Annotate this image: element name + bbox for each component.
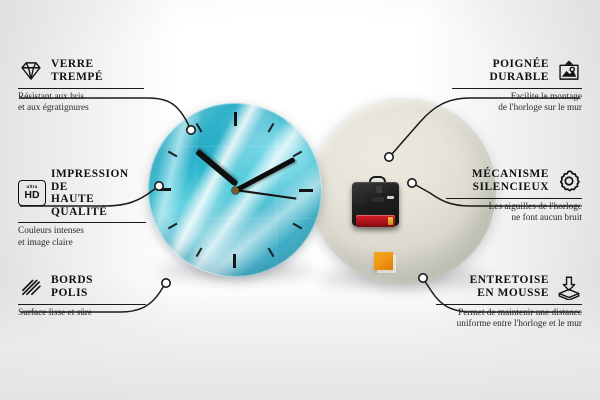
picture-hanger-icon [556,58,582,84]
battery-terminal [388,217,393,225]
feature-description: Surface lisse et sûre [18,308,146,319]
polished-edges-icon [18,274,44,300]
product-infographic: VERRE TREMPÉ Résistant aux bris et aux é… [0,0,600,400]
feature-divider [18,304,146,305]
feature-mecanisme-silencieux[interactable]: MÉCANISME SILENCIEUX Les aiguilles de l'… [446,168,582,224]
feature-description: Couleurs intenses et image claire [18,226,146,248]
clock-center-hub [232,187,239,194]
feature-header: ultra HD IMPRESSION DE HAUTE QUALITÉ [18,168,146,218]
foam-spacer-icon [556,274,582,300]
mechanism-battery [356,215,395,227]
feature-title: MÉCANISME SILENCIEUX [472,168,549,193]
feature-entretoise-en-mousse[interactable]: ENTRETOISE EN MOUSSE Permet de maintenir… [436,274,582,330]
feature-description: Facilite le montage de l'horloge sur le … [452,92,582,114]
feature-title: IMPRESSION DE HAUTE QUALITÉ [51,168,146,218]
feature-title: BORDS POLIS [51,274,93,299]
feature-title: POIGNÉE DURABLE [489,58,549,83]
feature-header: ENTRETOISE EN MOUSSE [436,274,582,300]
feature-divider [18,222,146,223]
feature-description: Permet de maintenir une distance uniform… [436,308,582,330]
feature-header: MÉCANISME SILENCIEUX [446,168,582,194]
feature-bords-polis[interactable]: BORDS POLIS Surface lisse et sûre [18,274,146,319]
feature-poignee-durable[interactable]: POIGNÉE DURABLE Facilite le montage de l… [452,58,582,114]
feature-header: POIGNÉE DURABLE [452,58,582,84]
mechanism-detail-e [387,196,394,199]
feature-verre-trempe[interactable]: VERRE TREMPÉ Résistant aux bris et aux é… [18,58,144,114]
ultra-hd-badge-icon: ultra HD [18,180,44,206]
mechanism-detail-c [357,196,367,205]
feature-divider [18,88,144,89]
mechanism-detail-b [376,186,382,193]
feature-divider [452,88,582,89]
feature-title: VERRE TREMPÉ [51,58,103,83]
feature-description: Résistant aux bris et aux égratignures [18,92,144,114]
clock-front-disc [148,103,322,277]
feature-header: VERRE TREMPÉ [18,58,144,84]
feature-divider [446,198,582,199]
feature-impression-haute-qualite[interactable]: ultra HD IMPRESSION DE HAUTE QUALITÉ Cou… [18,168,146,249]
mechanism-body [352,182,399,226]
mechanism-detail-d [371,197,384,202]
diamond-icon [18,58,44,84]
gear-icon [556,168,582,194]
feature-description: Les aiguilles de l'horloge ne font aucun… [446,202,582,224]
feature-divider [436,304,582,305]
clock-mechanism [352,176,399,226]
feature-title: ENTRETOISE EN MOUSSE [470,274,549,299]
feature-header: BORDS POLIS [18,274,146,300]
mechanism-detail-a [357,187,373,191]
foam-spacer [374,252,393,270]
